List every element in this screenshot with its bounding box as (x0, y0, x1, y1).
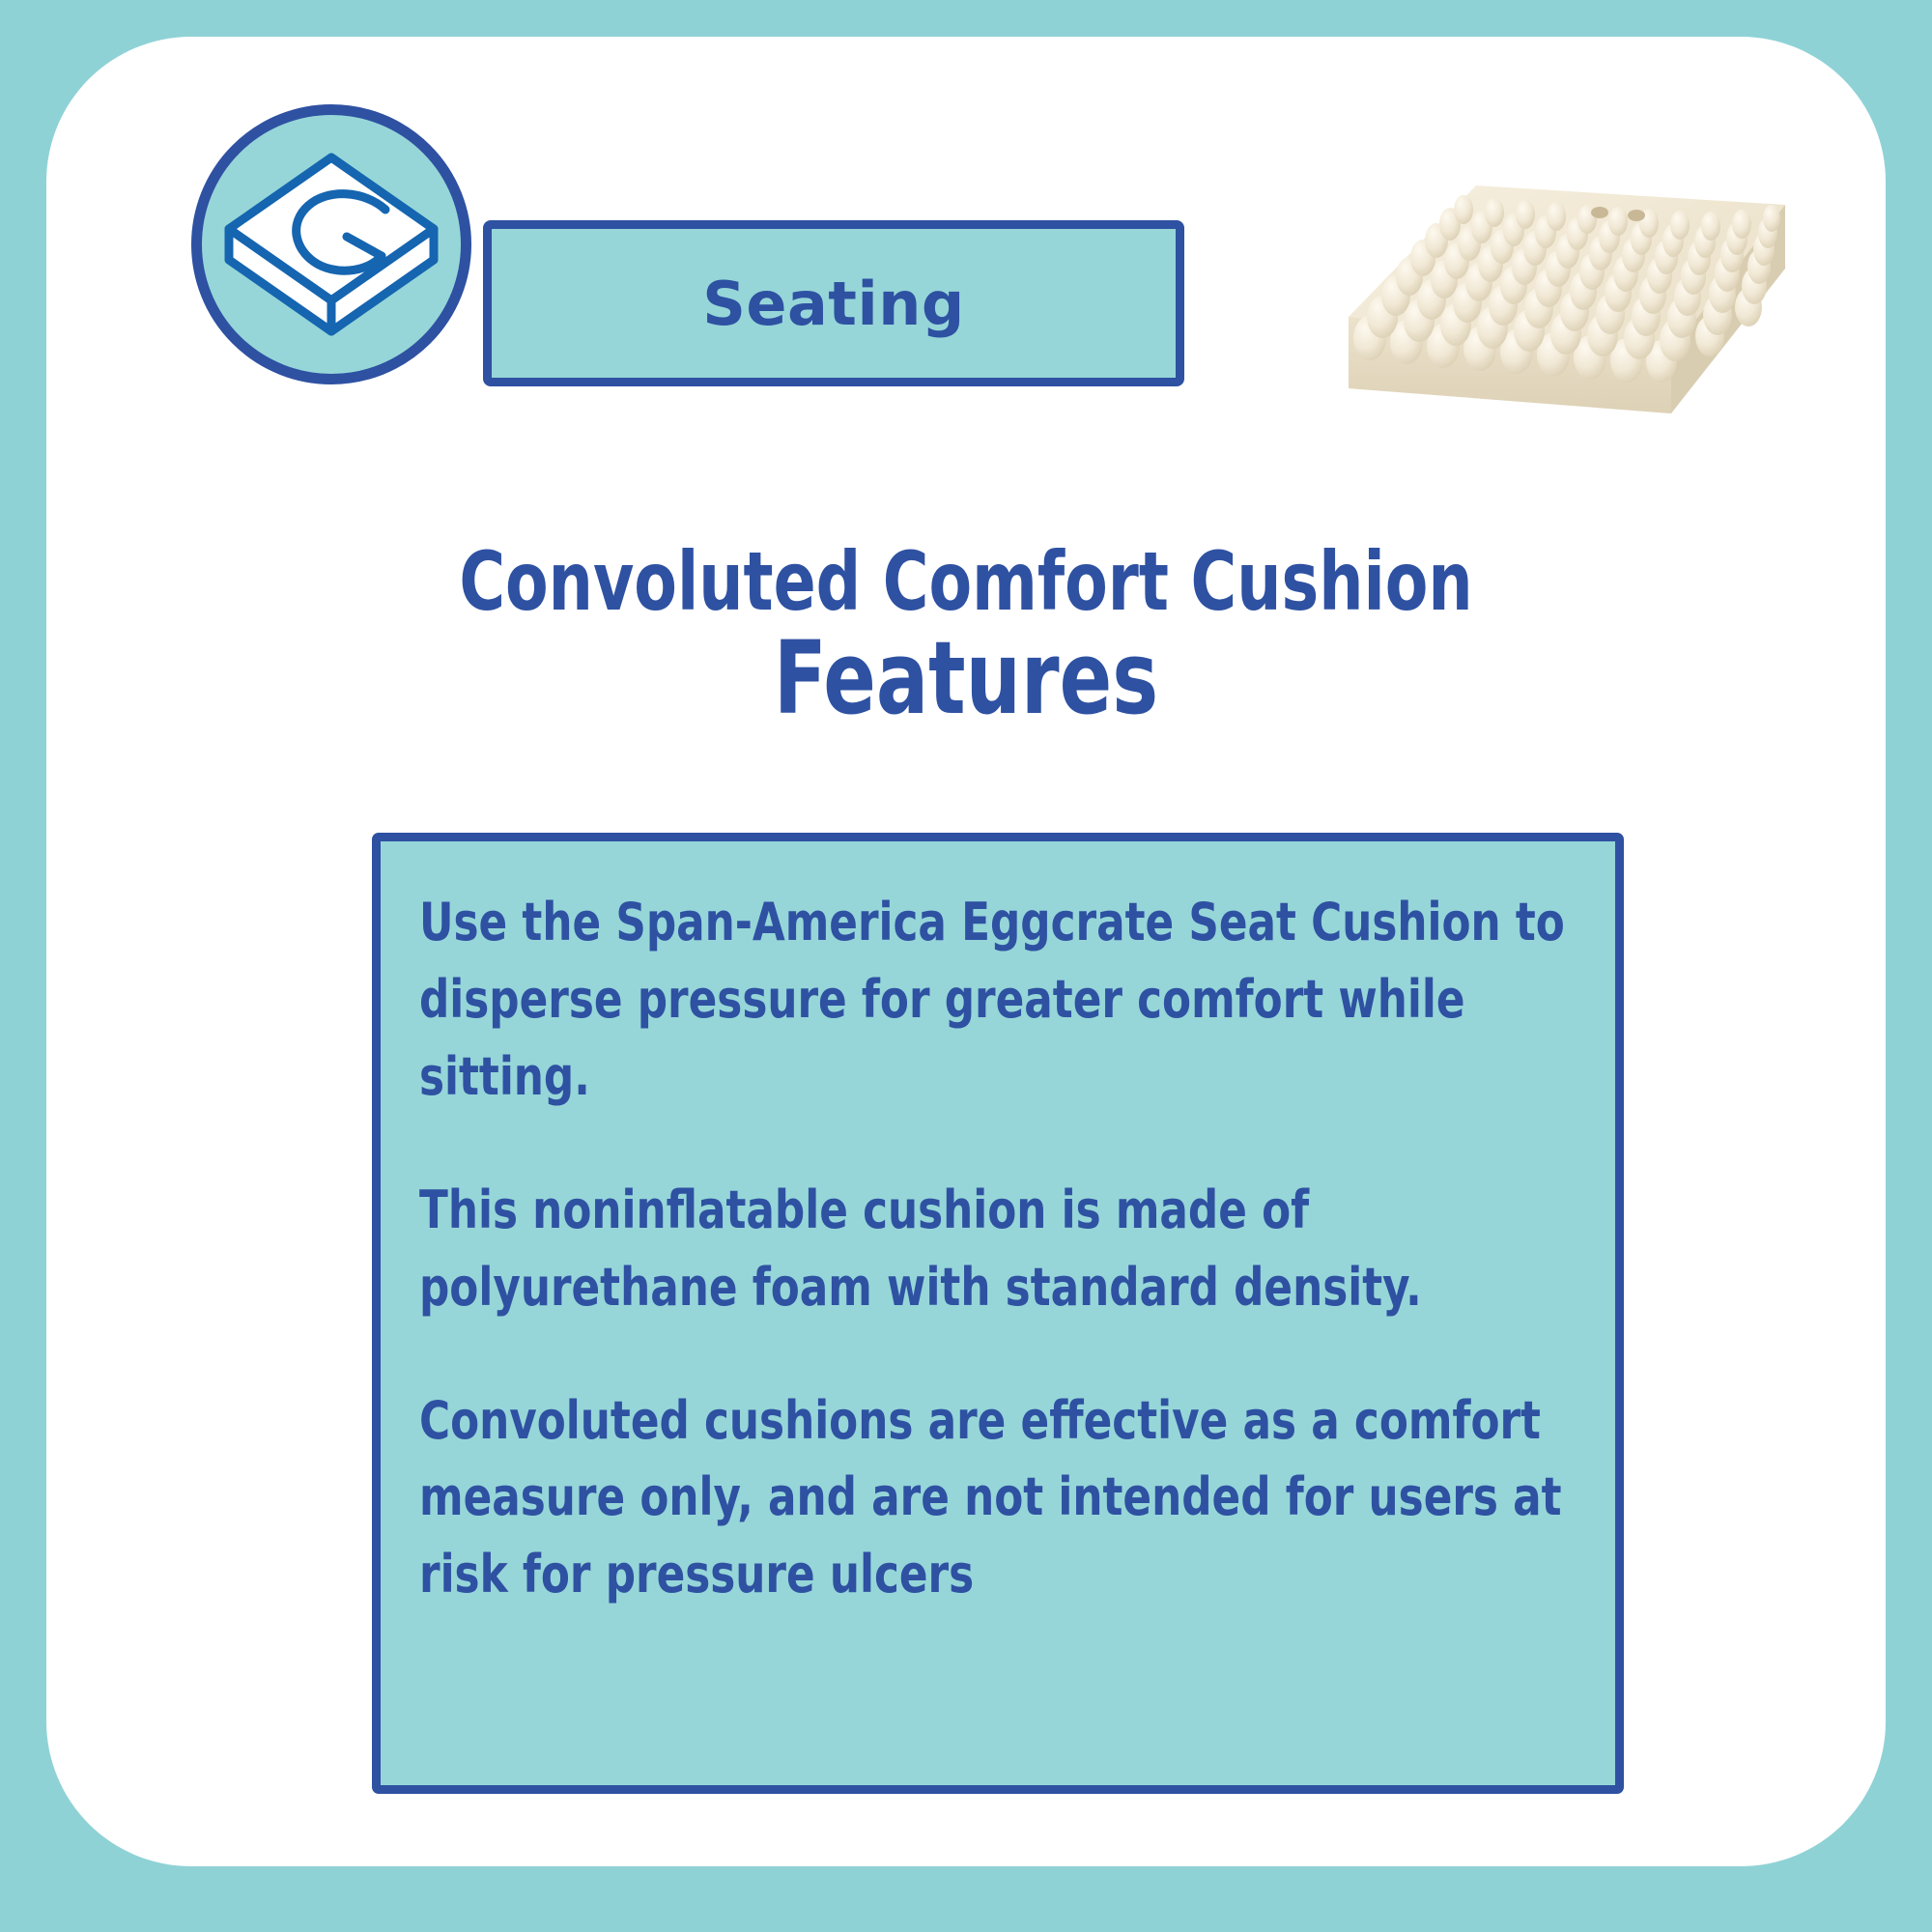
category-label: Seating (702, 269, 964, 339)
feature-paragraph-1: Use the Span-America Eggcrate Seat Cushi… (419, 884, 1576, 1116)
product-photo (1331, 145, 1804, 454)
page-root: Seating (0, 0, 1932, 1932)
cushion-icon (219, 148, 443, 341)
feature-paragraph-2: This noninflatable cushion is made of po… (419, 1172, 1576, 1326)
title-block: Convoluted Comfort Cushion Features (46, 541, 1886, 731)
feature-paragraph-3: Convoluted cushions are effective as a c… (419, 1382, 1576, 1614)
page-title-line2: Features (175, 626, 1756, 731)
page-title-line1: Convoluted Comfort Cushion (175, 541, 1756, 622)
cushion-icon-badge (191, 104, 471, 384)
category-badge[interactable]: Seating (483, 220, 1184, 386)
eggcrate-foam-illustration (1331, 145, 1804, 454)
features-textbox: Use the Span-America Eggcrate Seat Cushi… (372, 833, 1624, 1794)
